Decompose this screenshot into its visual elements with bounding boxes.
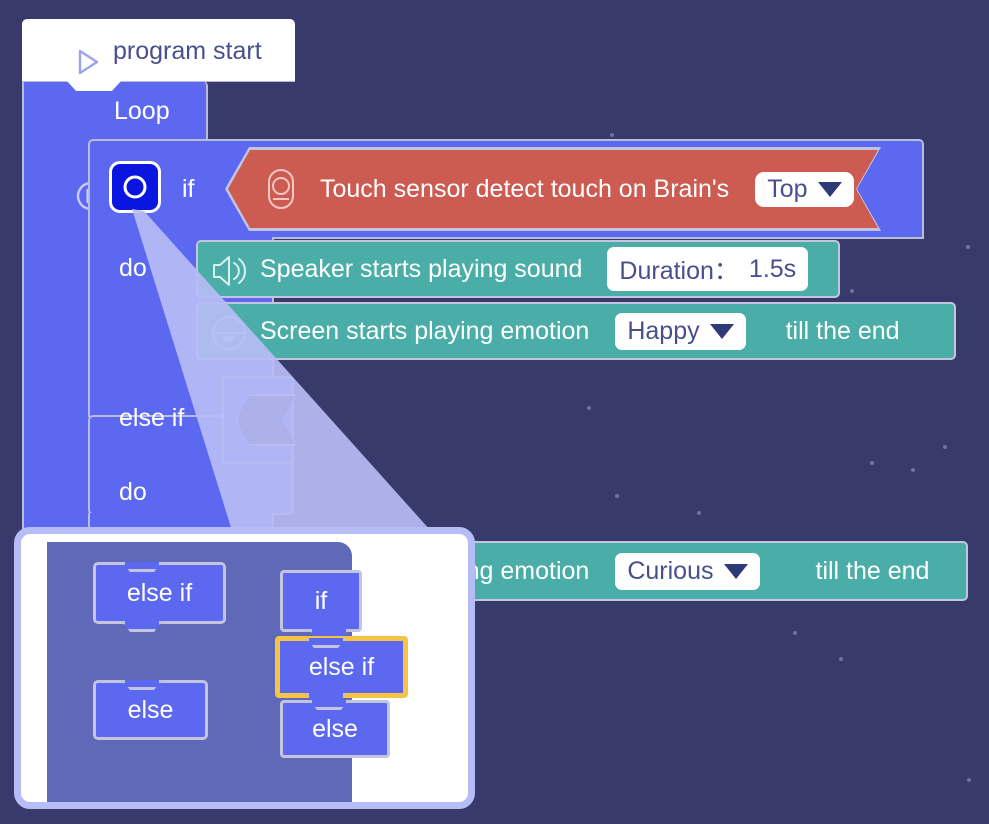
star-dot	[610, 133, 614, 137]
do-keyword-2: do	[119, 478, 147, 507]
star-dot	[793, 631, 797, 635]
star-dot	[839, 657, 843, 661]
screen-block-suffix-2: till the end	[816, 557, 930, 586]
empty-condition-socket[interactable]	[222, 376, 294, 464]
screen-block-text: Screen starts playing emotion	[260, 317, 589, 346]
mutator-stack-if[interactable]: if	[280, 570, 362, 632]
duration-field-label: Duration：	[619, 251, 739, 287]
speaker-icon-wrap	[198, 242, 260, 296]
duration-field[interactable]: Duration： 1.5s	[607, 247, 808, 291]
mutator-flyout-else[interactable]: else	[93, 680, 208, 740]
touch-condition-text: Touch sensor detect touch on Brain's	[320, 177, 729, 202]
star-dot	[966, 245, 970, 249]
emotion-dropdown-happy[interactable]: Happy	[615, 313, 745, 350]
mutator-flyout-else-if[interactable]: else if	[93, 562, 226, 624]
mutator-stack-else-if-label: else if	[309, 653, 374, 682]
screen-play-emotion-happy-block[interactable]: Screen starts playing emotion Happy till…	[196, 302, 956, 360]
star-dot	[967, 778, 971, 782]
emotion-dropdown-value-2: Curious	[627, 557, 713, 586]
notch-top	[122, 680, 162, 690]
touch-sensor-condition-block[interactable]: Touch sensor detect touch on Brain's Top	[228, 150, 878, 228]
emotion-dropdown-value: Happy	[627, 317, 699, 346]
do-keyword-1: do	[119, 254, 147, 283]
mutator-gear-button[interactable]	[109, 161, 161, 213]
speaker-icon	[211, 254, 251, 288]
loop-block-label: Loop	[114, 99, 170, 124]
mutator-stack-else-if[interactable]: else if	[275, 636, 408, 698]
notch-top	[306, 638, 346, 648]
screen-block-suffix: till the end	[786, 317, 900, 346]
speaker-block-text: Speaker starts playing sound	[260, 255, 582, 284]
brain-face-dropdown[interactable]: Top	[755, 172, 853, 207]
mutator-stack-else-label: else	[312, 715, 358, 744]
program-start-label: program start	[113, 37, 262, 66]
duration-field-value: 1.5s	[749, 255, 796, 284]
emotion-icon-wrap	[198, 304, 260, 358]
emotion-dropdown-curious[interactable]: Curious	[615, 553, 759, 590]
speaker-play-sound-block[interactable]: Speaker starts playing sound Duration： 1…	[196, 240, 840, 298]
if-keyword: if	[182, 175, 195, 204]
gear-circle-icon	[124, 176, 147, 199]
program-start-block[interactable]: program start	[22, 19, 295, 81]
brain-face-dropdown-value: Top	[767, 175, 807, 204]
touch-sensor-icon	[266, 168, 296, 210]
notch-top	[309, 700, 349, 710]
notch-top	[122, 562, 162, 572]
mutator-stack-else[interactable]: else	[280, 700, 390, 758]
chevron-down-icon	[724, 564, 748, 579]
mutator-flyout-else-if-label: else if	[127, 579, 192, 608]
blockly-workspace[interactable]: Loop if do else if do Touch sensor	[0, 0, 989, 824]
mutator-stack-if-label: if	[315, 587, 328, 616]
star-dot	[943, 445, 947, 449]
chevron-down-icon	[710, 324, 734, 339]
mutator-flyout-else-label: else	[128, 696, 174, 725]
chevron-down-icon	[818, 182, 842, 197]
play-triangle-icon	[72, 47, 102, 77]
emotion-face-icon	[210, 314, 248, 352]
else-if-keyword: else if	[119, 404, 184, 433]
